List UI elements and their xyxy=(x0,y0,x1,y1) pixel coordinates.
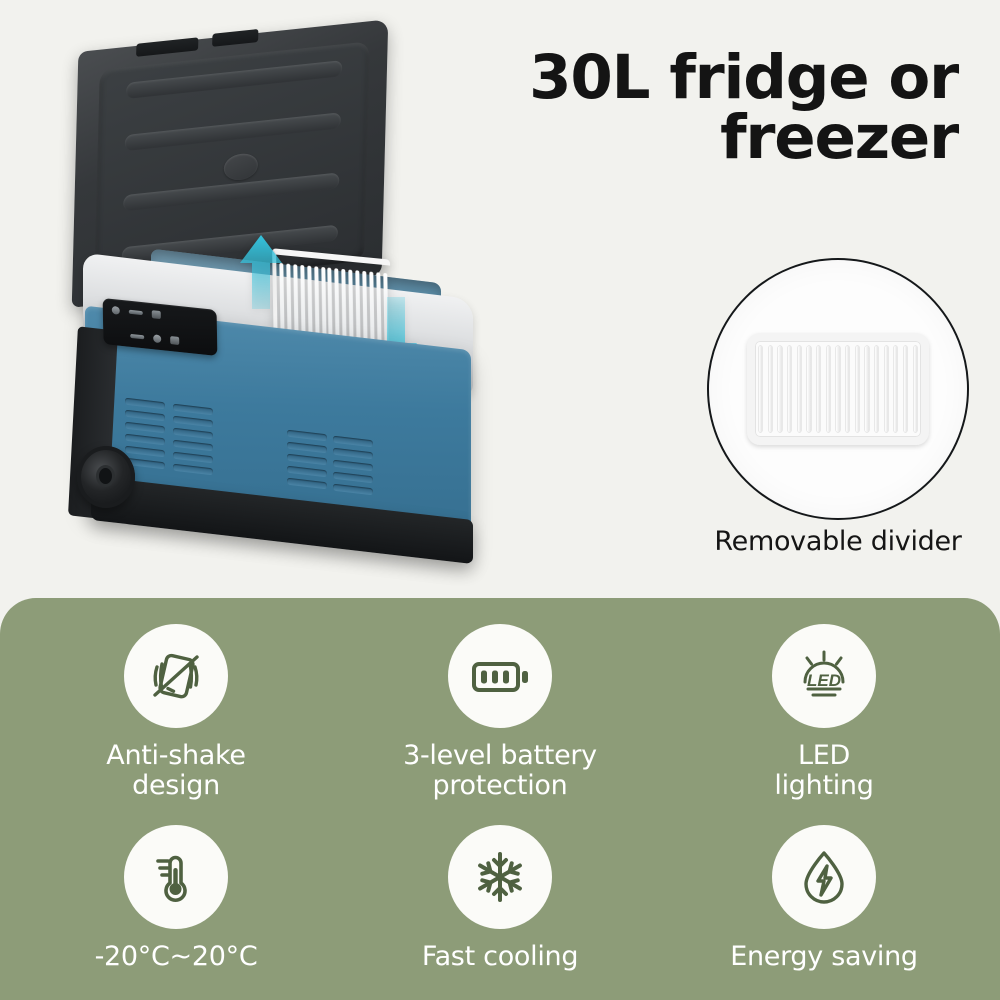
snowflake-icon xyxy=(469,846,531,908)
energy-leaf-icon xyxy=(793,846,855,908)
lid-rib xyxy=(125,112,341,151)
thermometer-icon xyxy=(145,846,207,908)
minus-button-icon[interactable] xyxy=(129,310,143,315)
callout-circle xyxy=(707,258,969,520)
feature-fast-cooling: Fast cooling xyxy=(338,825,662,972)
feature-temperature-range: -20°C~20°C xyxy=(14,825,338,972)
feature-label-line-2: design xyxy=(132,770,220,801)
feature-icon-circle: LED xyxy=(772,624,876,728)
feature-icon-circle xyxy=(124,825,228,929)
removable-divider-callout: Removable divider xyxy=(707,258,969,520)
lid-hinge-left xyxy=(136,37,198,57)
svg-text:LED: LED xyxy=(807,671,841,690)
power-button-icon[interactable] xyxy=(112,306,120,315)
vent-group xyxy=(125,398,165,470)
feature-label-line-1: -20°C~20°C xyxy=(95,941,258,972)
lid-vent-cap xyxy=(223,152,258,182)
divider-rack-icon xyxy=(747,333,929,445)
feature-icon-circle xyxy=(448,624,552,728)
feature-label-line-1: Anti-shake xyxy=(106,740,245,771)
mode-button-icon[interactable] xyxy=(153,334,161,343)
feature-label-line-1: LED xyxy=(798,740,850,771)
lid-inner-panel xyxy=(94,41,370,289)
feature-energy-saving: Energy saving xyxy=(662,825,986,972)
lid-hinge-right xyxy=(212,29,258,47)
feature-label: Fast cooling xyxy=(422,942,578,972)
feature-label: Energy saving xyxy=(730,942,918,972)
headline-line-2: freezer xyxy=(488,108,958,168)
feature-anti-shake: Anti-shake design xyxy=(14,624,338,801)
callout-caption: Removable divider xyxy=(607,526,1000,557)
product-image xyxy=(55,28,495,568)
vent-group xyxy=(287,430,327,490)
feature-label-line-1: 3-level battery xyxy=(403,740,597,771)
hero-section: 30L fridge or freezer Removable divider xyxy=(0,0,1000,600)
page-title: 30L fridge or freezer xyxy=(488,48,958,168)
feature-label-line-1: Energy saving xyxy=(730,941,918,972)
battery-icon xyxy=(467,645,533,707)
vent-group xyxy=(333,436,373,496)
lid-rib xyxy=(126,60,342,99)
feature-led-lighting: LED LED lighting xyxy=(662,624,986,801)
vent-group xyxy=(173,404,213,476)
features-row-1: Anti-shake design 3-level battery protec xyxy=(14,624,986,801)
plus-button-icon[interactable] xyxy=(130,334,144,339)
transport-wheel xyxy=(77,446,135,508)
display-icon xyxy=(152,310,161,319)
feature-label: Anti-shake design xyxy=(106,741,245,801)
set-button-icon[interactable] xyxy=(170,336,179,345)
features-row-2: -20°C~20°C xyxy=(14,825,986,972)
feature-label: LED lighting xyxy=(774,741,873,801)
feature-label-line-1: Fast cooling xyxy=(422,941,578,972)
feature-label-line-2: protection xyxy=(433,770,568,801)
feature-label: 3-level battery protection xyxy=(403,741,597,801)
features-panel: Anti-shake design 3-level battery protec xyxy=(0,598,1000,1000)
feature-icon-circle xyxy=(448,825,552,929)
feature-icon-circle xyxy=(772,825,876,929)
led-icon: LED xyxy=(791,645,857,707)
anti-shake-icon xyxy=(145,645,207,707)
feature-battery-protection: 3-level battery protection xyxy=(338,624,662,801)
divider-lift-arrow-icon xyxy=(238,233,284,311)
feature-label-line-2: lighting xyxy=(774,770,873,801)
feature-label: -20°C~20°C xyxy=(95,942,258,972)
feature-icon-circle xyxy=(124,624,228,728)
